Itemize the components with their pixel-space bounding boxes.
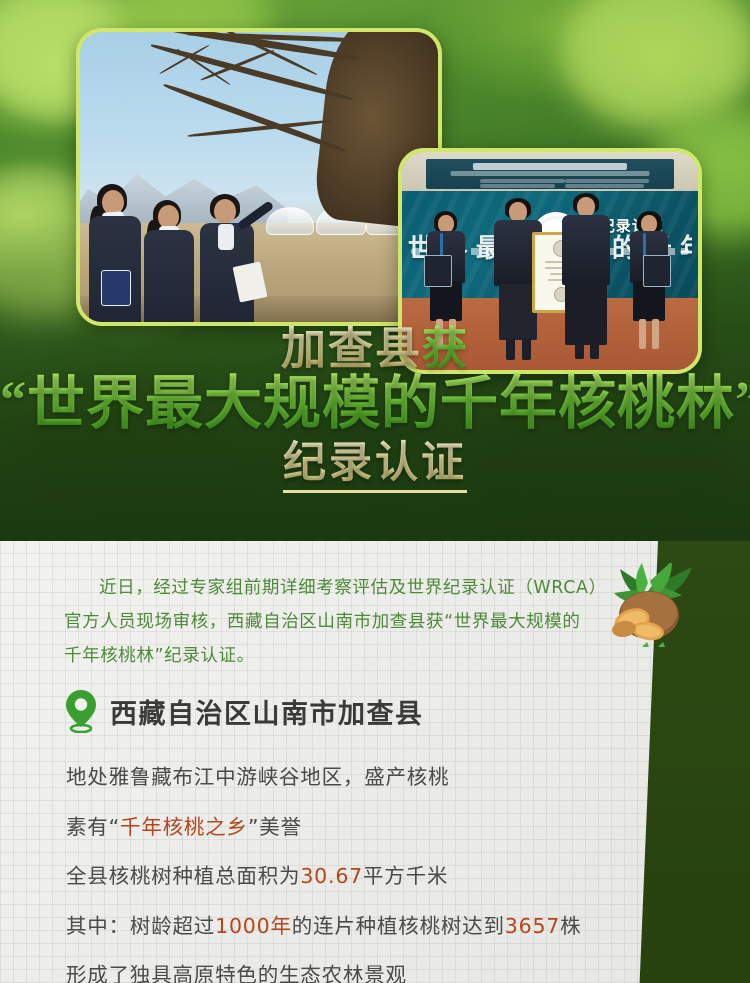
quote-close: ”: [735, 372, 750, 429]
fact-highlight: 3657: [505, 914, 560, 938]
intro-paragraph: 近日，经过专家组前期详细考察评估及世界纪录认证（WRCA） 官方人员现场审核，西…: [64, 571, 624, 673]
greenhouse-1: [266, 207, 314, 235]
location-heading: 西藏自治区山南市加查县: [64, 689, 424, 733]
title-line-1: 加查县获: [0, 325, 750, 374]
fact-line: 素有“千年核桃之乡”美誉: [66, 803, 706, 853]
fact-highlight: 1000年: [215, 914, 292, 938]
ceremony-banner: [426, 159, 675, 190]
fact-highlight: 30.67: [300, 864, 363, 888]
intro-line: 官方人员现场审核，西藏自治区山南市加查县获“世界最大规模的: [64, 605, 624, 639]
fact-text: 株: [560, 914, 581, 938]
fact-line: 形成了独具高原特色的生态农林景观: [66, 951, 706, 983]
poster-title: 加查县获 “世界最大规模的千年核桃林” 纪录认证: [0, 325, 750, 493]
location-pin-icon: [64, 689, 98, 733]
award-plaque: [424, 255, 452, 287]
fact-text: 平方千米: [363, 864, 448, 888]
fact-text: 其中：树龄超过: [66, 914, 215, 938]
fact-line: 其中：树龄超过1000年的连片种植核桃树达到3657株: [66, 902, 706, 952]
title-record-name: 世界最大规模的千年核桃林: [27, 371, 735, 436]
intro-line: 近日，经过专家组前期详细考察评估及世界纪录认证（WRCA）: [64, 571, 624, 605]
title-line-3: 纪录认证: [283, 439, 467, 493]
content-panel: 近日，经过专家组前期详细考察评估及世界纪录认证（WRCA） 官方人员现场审核，西…: [0, 541, 750, 983]
quote-open: “: [0, 372, 27, 429]
inspector-person: [141, 200, 197, 322]
fact-text: 地处雅鲁藏布江中游峡谷地区，盛产核桃: [66, 765, 449, 789]
intro-line: 千年核桃林”纪录认证。: [64, 639, 624, 673]
fact-highlight: 千年核桃之乡: [120, 815, 248, 839]
inspector-person-pointing: [198, 194, 258, 322]
fact-text: 全县核桃树种植总面积为: [66, 864, 300, 888]
orchard-inspection-photo[interactable]: [76, 28, 442, 326]
fact-line: 地处雅鲁藏布江中游峡谷地区，盛产核桃: [66, 753, 706, 803]
location-label: 西藏自治区山南市加查县: [110, 692, 424, 731]
inspector-person: [87, 186, 145, 322]
title-county-name: 加查县: [281, 324, 422, 374]
award-plaque: [643, 255, 671, 287]
fact-line: 全县核桃树种植总面积为30.67平方千米: [66, 852, 706, 902]
facts-list: 地处雅鲁藏布江中游峡谷地区，盛产核桃素有“千年核桃之乡”美誉全县核桃树种植总面积…: [66, 753, 706, 983]
orchard-scene: [80, 32, 438, 322]
title-verb-obtain: 获: [422, 324, 469, 374]
fact-text: 形成了独具高原特色的生态农林景观: [66, 963, 407, 983]
fact-text: ”美誉: [248, 815, 302, 839]
fact-text: 素有“: [66, 815, 120, 839]
poster-root: WRCA 世界纪录认证 世界最大规模的千年核桃: [0, 0, 750, 983]
fact-text: 的连片种植核桃树达到: [292, 914, 505, 938]
wrca-badge: [101, 270, 131, 306]
title-line-2: “世界最大规模的千年核桃林”: [0, 372, 750, 437]
